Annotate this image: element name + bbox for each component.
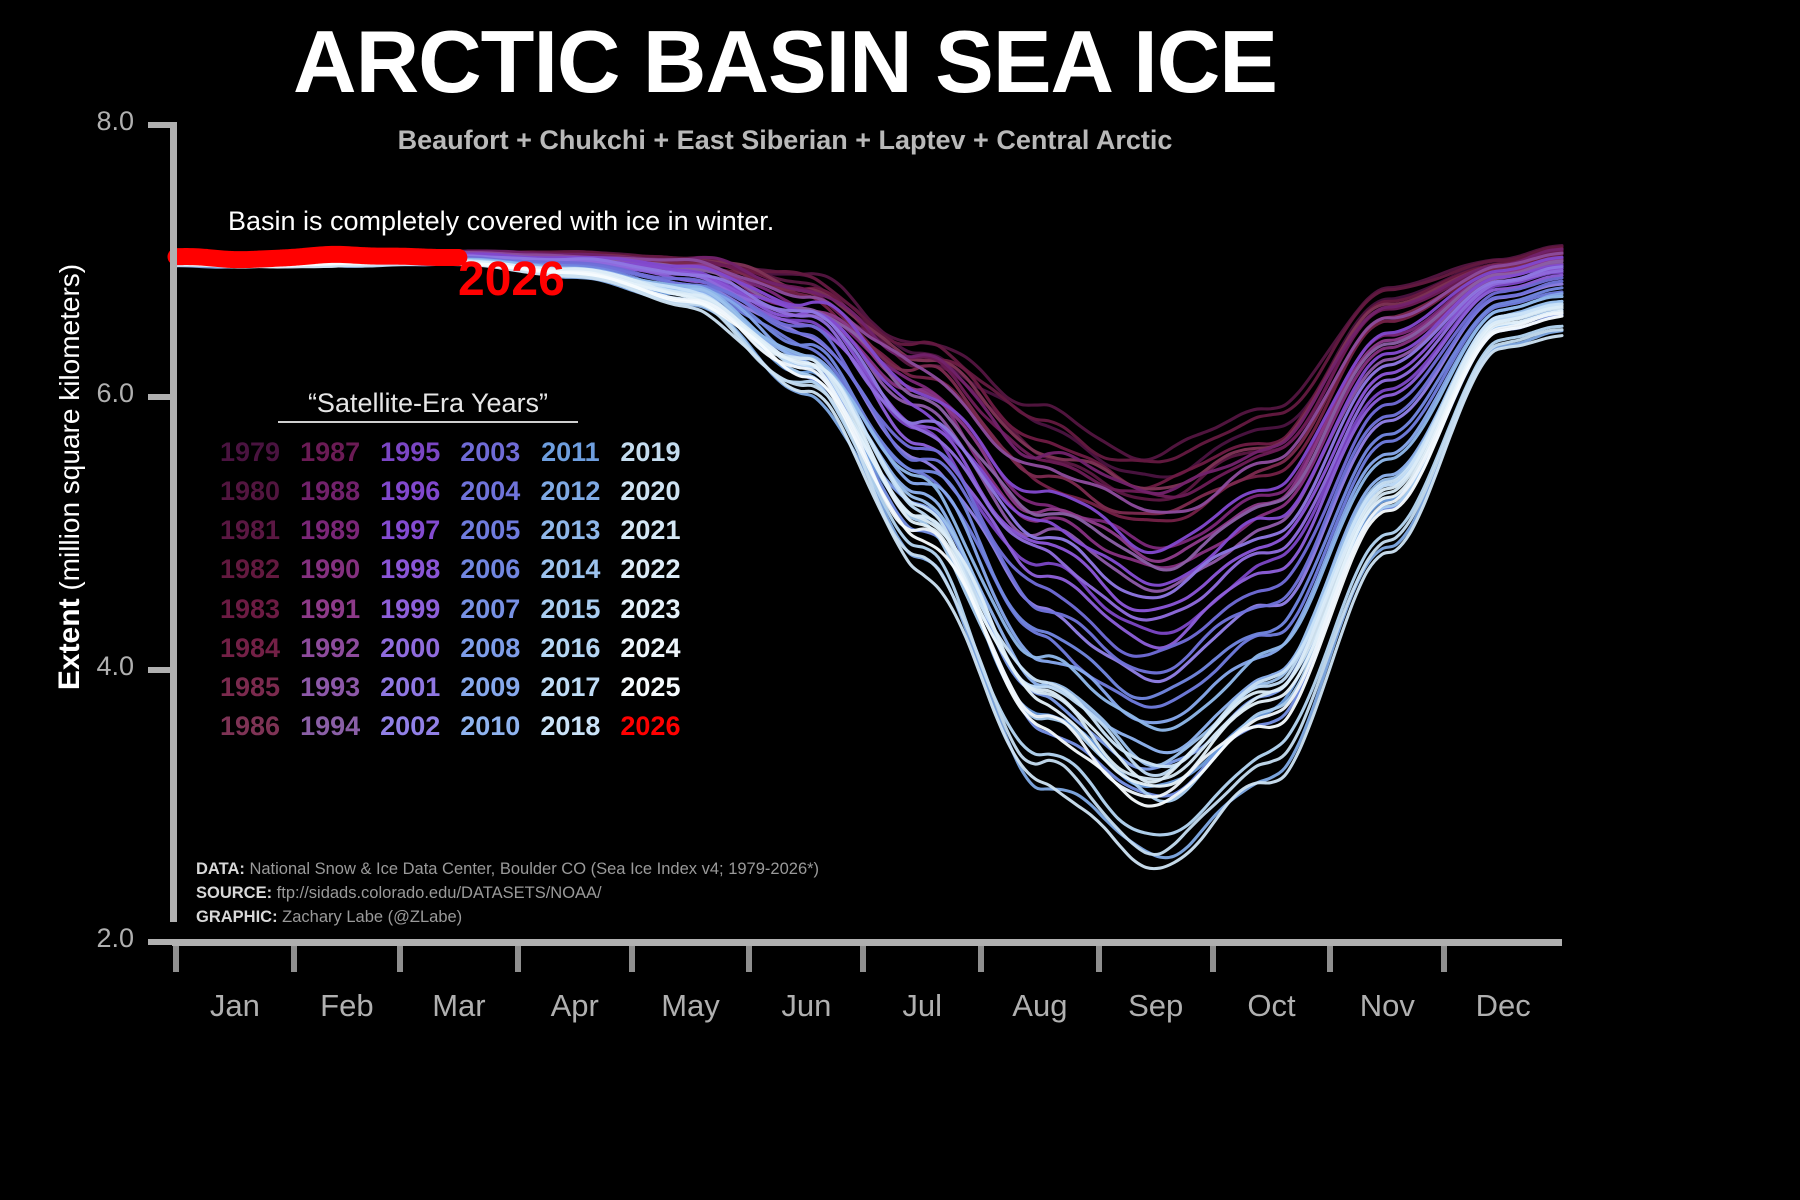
y-tick-mark xyxy=(148,394,172,400)
y-tick-mark xyxy=(148,939,172,945)
legend-year-2001: 2001 xyxy=(370,668,450,707)
legend-year-2003: 2003 xyxy=(450,433,530,472)
x-tick-mark xyxy=(291,946,297,972)
x-tick-mark xyxy=(1441,946,1447,972)
legend-year-2017: 2017 xyxy=(530,668,610,707)
legend-year-2015: 2015 xyxy=(530,590,610,629)
y-axis-line xyxy=(170,122,177,922)
y-axis-label: Extent (million square kilometers) xyxy=(53,117,87,837)
y-tick-label: 2.0 xyxy=(24,923,134,954)
y-axis-label-bold: Extent xyxy=(53,598,86,690)
legend-year-2022: 2022 xyxy=(610,550,690,589)
legend-year-2010: 2010 xyxy=(450,707,530,746)
legend-row: 198219901998200620142022 xyxy=(210,550,690,589)
x-tick-label: Jul xyxy=(862,988,982,1024)
legend-year-1985: 1985 xyxy=(210,668,290,707)
page-title: ARCTIC BASIN SEA ICE xyxy=(0,18,1570,106)
attribution-source-line: SOURCE: ftp://sidads.colorado.edu/DATASE… xyxy=(196,882,819,906)
x-tick-label: Apr xyxy=(515,988,635,1024)
y-axis-label-unit: (million square kilometers) xyxy=(54,264,85,599)
legend-year-1997: 1997 xyxy=(370,511,450,550)
attribution-graphic-label: GRAPHIC: xyxy=(196,908,278,926)
legend-year-1986: 1986 xyxy=(210,707,290,746)
legend-row: 198019881996200420122020 xyxy=(210,472,690,511)
x-tick-label: Mar xyxy=(399,988,519,1024)
legend-row: 198119891997200520132021 xyxy=(210,511,690,550)
legend-year-1994: 1994 xyxy=(290,707,370,746)
legend-year-1987: 1987 xyxy=(290,433,370,472)
legend-year-2006: 2006 xyxy=(450,550,530,589)
attribution-block: DATA: National Snow & Ice Data Center, B… xyxy=(196,858,819,930)
x-tick-mark xyxy=(397,946,403,972)
legend-year-2023: 2023 xyxy=(610,590,690,629)
legend-year-1992: 1992 xyxy=(290,629,370,668)
chart-canvas: ARCTIC BASIN SEA ICE Beaufort + Chukchi … xyxy=(0,0,1800,1200)
legend-year-1979: 1979 xyxy=(210,433,290,472)
legend-year-1991: 1991 xyxy=(290,590,370,629)
legend-year-2000: 2000 xyxy=(370,629,450,668)
x-tick-mark xyxy=(746,946,752,972)
attribution-data-label: DATA: xyxy=(196,860,245,878)
legend-year-1980: 1980 xyxy=(210,472,290,511)
legend-year-2014: 2014 xyxy=(530,550,610,589)
legend-year-2007: 2007 xyxy=(450,590,530,629)
legend-year-2011: 2011 xyxy=(530,433,610,472)
attribution-source-value: ftp://sidads.colorado.edu/DATASETS/NOAA/ xyxy=(272,884,602,902)
x-tick-label: Feb xyxy=(287,988,407,1024)
legend-title: “Satellite-Era Years” xyxy=(278,388,578,423)
legend-year-grid: 1979198719952003201120191980198819962004… xyxy=(210,433,690,746)
current-year-annotation: 2026 xyxy=(458,252,565,307)
legend-year-2024: 2024 xyxy=(610,629,690,668)
legend-row: 198319911999200720152023 xyxy=(210,590,690,629)
attribution-graphic-value: Zachary Labe (@ZLabe) xyxy=(278,908,463,926)
x-tick-label: Nov xyxy=(1327,988,1447,1024)
x-tick-mark xyxy=(173,946,179,972)
winter-annotation: Basin is completely covered with ice in … xyxy=(228,206,774,237)
legend-year-2008: 2008 xyxy=(450,629,530,668)
legend-year-2012: 2012 xyxy=(530,472,610,511)
x-tick-mark xyxy=(860,946,866,972)
x-tick-label: Aug xyxy=(980,988,1100,1024)
legend-year-1993: 1993 xyxy=(290,668,370,707)
legend-year-2009: 2009 xyxy=(450,668,530,707)
legend-year-2026: 2026 xyxy=(610,707,690,746)
legend-year-2004: 2004 xyxy=(450,472,530,511)
legend-year-2002: 2002 xyxy=(370,707,450,746)
legend-year-2020: 2020 xyxy=(610,472,690,511)
legend-year-1998: 1998 xyxy=(370,550,450,589)
x-tick-mark xyxy=(1096,946,1102,972)
legend-year-1989: 1989 xyxy=(290,511,370,550)
x-tick-mark xyxy=(629,946,635,972)
x-tick-mark xyxy=(978,946,984,972)
legend-row: 198419922000200820162024 xyxy=(210,629,690,668)
x-tick-label: Oct xyxy=(1212,988,1332,1024)
x-tick-mark xyxy=(515,946,521,972)
x-tick-label: Jan xyxy=(175,988,295,1024)
x-tick-label: May xyxy=(631,988,751,1024)
legend-year-2005: 2005 xyxy=(450,511,530,550)
legend-year-1981: 1981 xyxy=(210,511,290,550)
legend-year-1984: 1984 xyxy=(210,629,290,668)
attribution-graphic-line: GRAPHIC: Zachary Labe (@ZLabe) xyxy=(196,906,819,930)
x-tick-mark xyxy=(1210,946,1216,972)
x-tick-label: Jun xyxy=(746,988,866,1024)
attribution-source-label: SOURCE: xyxy=(196,884,272,902)
legend-year-2019: 2019 xyxy=(610,433,690,472)
attribution-data-line: DATA: National Snow & Ice Data Center, B… xyxy=(196,858,819,882)
attribution-data-value: National Snow & Ice Data Center, Boulder… xyxy=(245,860,819,878)
legend: “Satellite-Era Years” 197919871995200320… xyxy=(210,388,690,746)
legend-row: 198619942002201020182026 xyxy=(210,707,690,746)
x-tick-mark xyxy=(1327,946,1333,972)
legend-year-2021: 2021 xyxy=(610,511,690,550)
x-tick-label: Sep xyxy=(1096,988,1216,1024)
legend-year-2018: 2018 xyxy=(530,707,610,746)
y-tick-mark xyxy=(148,122,172,128)
legend-year-2025: 2025 xyxy=(610,668,690,707)
y-tick-mark xyxy=(148,667,172,673)
legend-year-1988: 1988 xyxy=(290,472,370,511)
legend-year-2016: 2016 xyxy=(530,629,610,668)
legend-year-1996: 1996 xyxy=(370,472,450,511)
legend-year-1999: 1999 xyxy=(370,590,450,629)
series-line-2026 xyxy=(176,254,459,259)
legend-year-1983: 1983 xyxy=(210,590,290,629)
chart-subtitle: Beaufort + Chukchi + East Siberian + Lap… xyxy=(0,125,1570,156)
x-tick-label: Dec xyxy=(1443,988,1563,1024)
legend-row: 198519932001200920172025 xyxy=(210,668,690,707)
legend-year-1990: 1990 xyxy=(290,550,370,589)
x-axis-line xyxy=(172,939,1562,946)
legend-year-2013: 2013 xyxy=(530,511,610,550)
legend-year-1995: 1995 xyxy=(370,433,450,472)
legend-year-1982: 1982 xyxy=(210,550,290,589)
legend-row: 197919871995200320112019 xyxy=(210,433,690,472)
